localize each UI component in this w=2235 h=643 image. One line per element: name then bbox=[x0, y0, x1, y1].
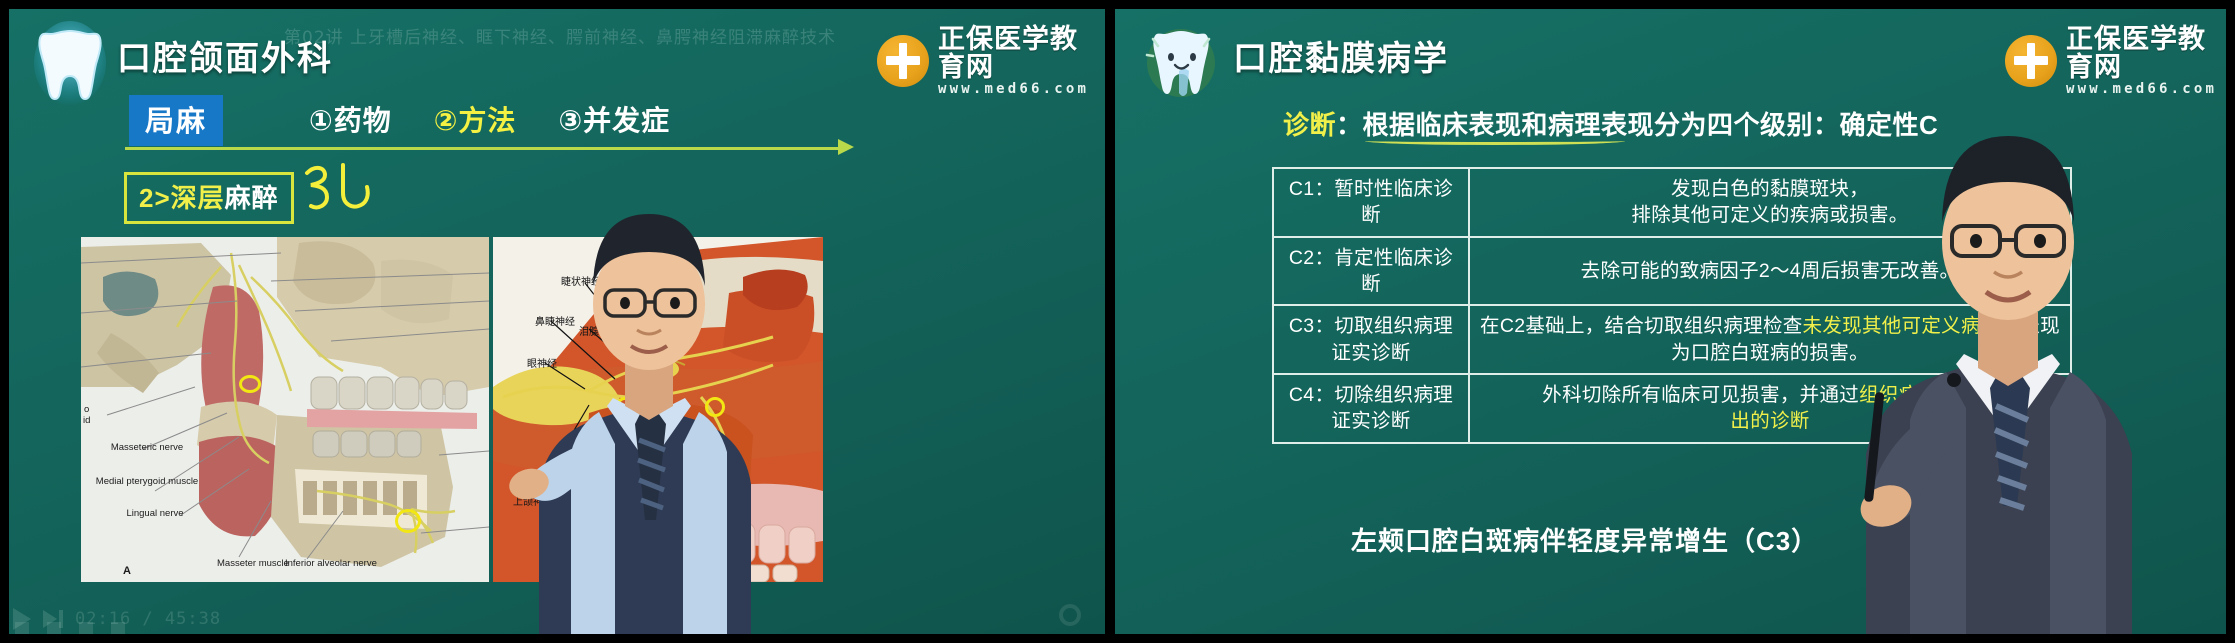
brand-name: 正保医学教育网 bbox=[2066, 25, 2226, 82]
boxed-note-highlight: 2>深层 bbox=[139, 183, 225, 213]
glowing-tooth-icon bbox=[33, 21, 107, 107]
brand-logo-right: 正保医学教育网 www.med66.com bbox=[2005, 25, 2226, 96]
anatomy-label-lingual-nerve: Lingual nerve bbox=[119, 509, 191, 520]
table-cell-key: C4：切除组织病理证实诊断 bbox=[1273, 374, 1469, 443]
brand-logo-left: 正保医学教育网 www.med66.com bbox=[877, 25, 1105, 96]
brand-url: www.med66.com bbox=[938, 82, 1105, 97]
boxed-note-deep-anesthesia: 2>深层麻醉 bbox=[124, 172, 294, 224]
slide-nav-items: ①药物 ②方法 ③并发症 bbox=[309, 99, 670, 139]
right-slide-title: 口腔黏膜病学 bbox=[1233, 31, 1449, 80]
presenter-right bbox=[1796, 74, 2226, 634]
handwritten-annotation-kong bbox=[299, 157, 381, 224]
diagnosis-label: 诊断 bbox=[1283, 110, 1336, 140]
nav-item-drugs[interactable]: ①药物 bbox=[309, 99, 392, 139]
anatomy-label-inferior-alveolar-nerve: Inferior alveolar nerve bbox=[285, 559, 357, 570]
left-slide-title: 口腔颌面外科 bbox=[117, 31, 333, 80]
forward-icon[interactable] bbox=[111, 622, 125, 634]
presenter-left bbox=[479, 154, 819, 634]
anatomy-label-masseter-muscle: Masseter muscle bbox=[217, 559, 283, 570]
table-cell-key: C1：暂时性临床诊断 bbox=[1273, 168, 1469, 237]
anatomy-panel-letter: A bbox=[123, 565, 131, 578]
dual-video-stage: 第02讲 上牙槽后神经、眶下神经、腭前神经、鼻腭神经阻滞麻醉技术 口腔颌面外科 … bbox=[0, 0, 2235, 643]
video-controls-secondary[interactable] bbox=[15, 622, 125, 634]
cross-circle-logo-icon bbox=[877, 35, 929, 87]
table-cell-key: C3：切取组织病理证实诊断 bbox=[1273, 305, 1469, 374]
anatomy-label-medial-pterygoid-muscle: Medial pterygoid muscle bbox=[95, 477, 199, 488]
arrow-head-icon bbox=[838, 139, 854, 155]
anatomy-label-masseteric-nerve: Masseteric nerve bbox=[107, 443, 187, 454]
diagnosis-underline bbox=[1365, 137, 1625, 145]
annotation-circle-2 bbox=[395, 509, 421, 533]
lecture-watermark: 第02讲 上牙槽后神经、眶下神经、腭前神经、鼻腭神经阻滞麻醉技术 bbox=[284, 23, 836, 48]
stop-icon[interactable] bbox=[79, 622, 93, 634]
smiling-tooth-icon bbox=[1139, 19, 1223, 103]
left-video-panel[interactable]: 第02讲 上牙槽后神经、眶下神经、腭前神经、鼻腭神经阻滞麻醉技术 口腔颌面外科 … bbox=[0, 0, 1110, 643]
brand-name: 正保医学教育网 bbox=[938, 25, 1105, 82]
table-cell-key: C2：肯定性临床诊断 bbox=[1273, 237, 1469, 306]
value-line-1: 在C2基础上，结合切取组织病理检查 bbox=[1480, 315, 1803, 337]
brand-url: www.med66.com bbox=[2066, 82, 2226, 97]
gear-icon[interactable] bbox=[1059, 604, 1081, 626]
annotation-circle-1 bbox=[239, 375, 261, 393]
topic-chip-local-anesthesia: 局麻 bbox=[129, 95, 223, 146]
right-video-panel[interactable]: 口腔黏膜病学 诊断：根据临床表现和病理表现分为四个级别：确定性C C1：暂时性临… bbox=[1110, 0, 2235, 643]
cross-circle-logo-icon bbox=[2005, 35, 2057, 87]
underline-rule bbox=[125, 147, 845, 150]
rewind-icon[interactable] bbox=[15, 622, 29, 634]
anatomy-figure-mandibular-nerves: oid Masseteric nerve Medial pterygoid mu… bbox=[81, 237, 489, 582]
pen-icon[interactable] bbox=[47, 622, 61, 634]
nav-item-complications[interactable]: ③并发症 bbox=[558, 99, 670, 139]
slide-caption: 左颊口腔白斑病伴轻度异常增生（C3） bbox=[1351, 521, 1818, 558]
anatomy-label-partial: oid bbox=[83, 405, 90, 427]
boxed-note-rest: 麻醉 bbox=[225, 183, 279, 213]
nav-item-methods[interactable]: ②方法 bbox=[434, 99, 517, 139]
